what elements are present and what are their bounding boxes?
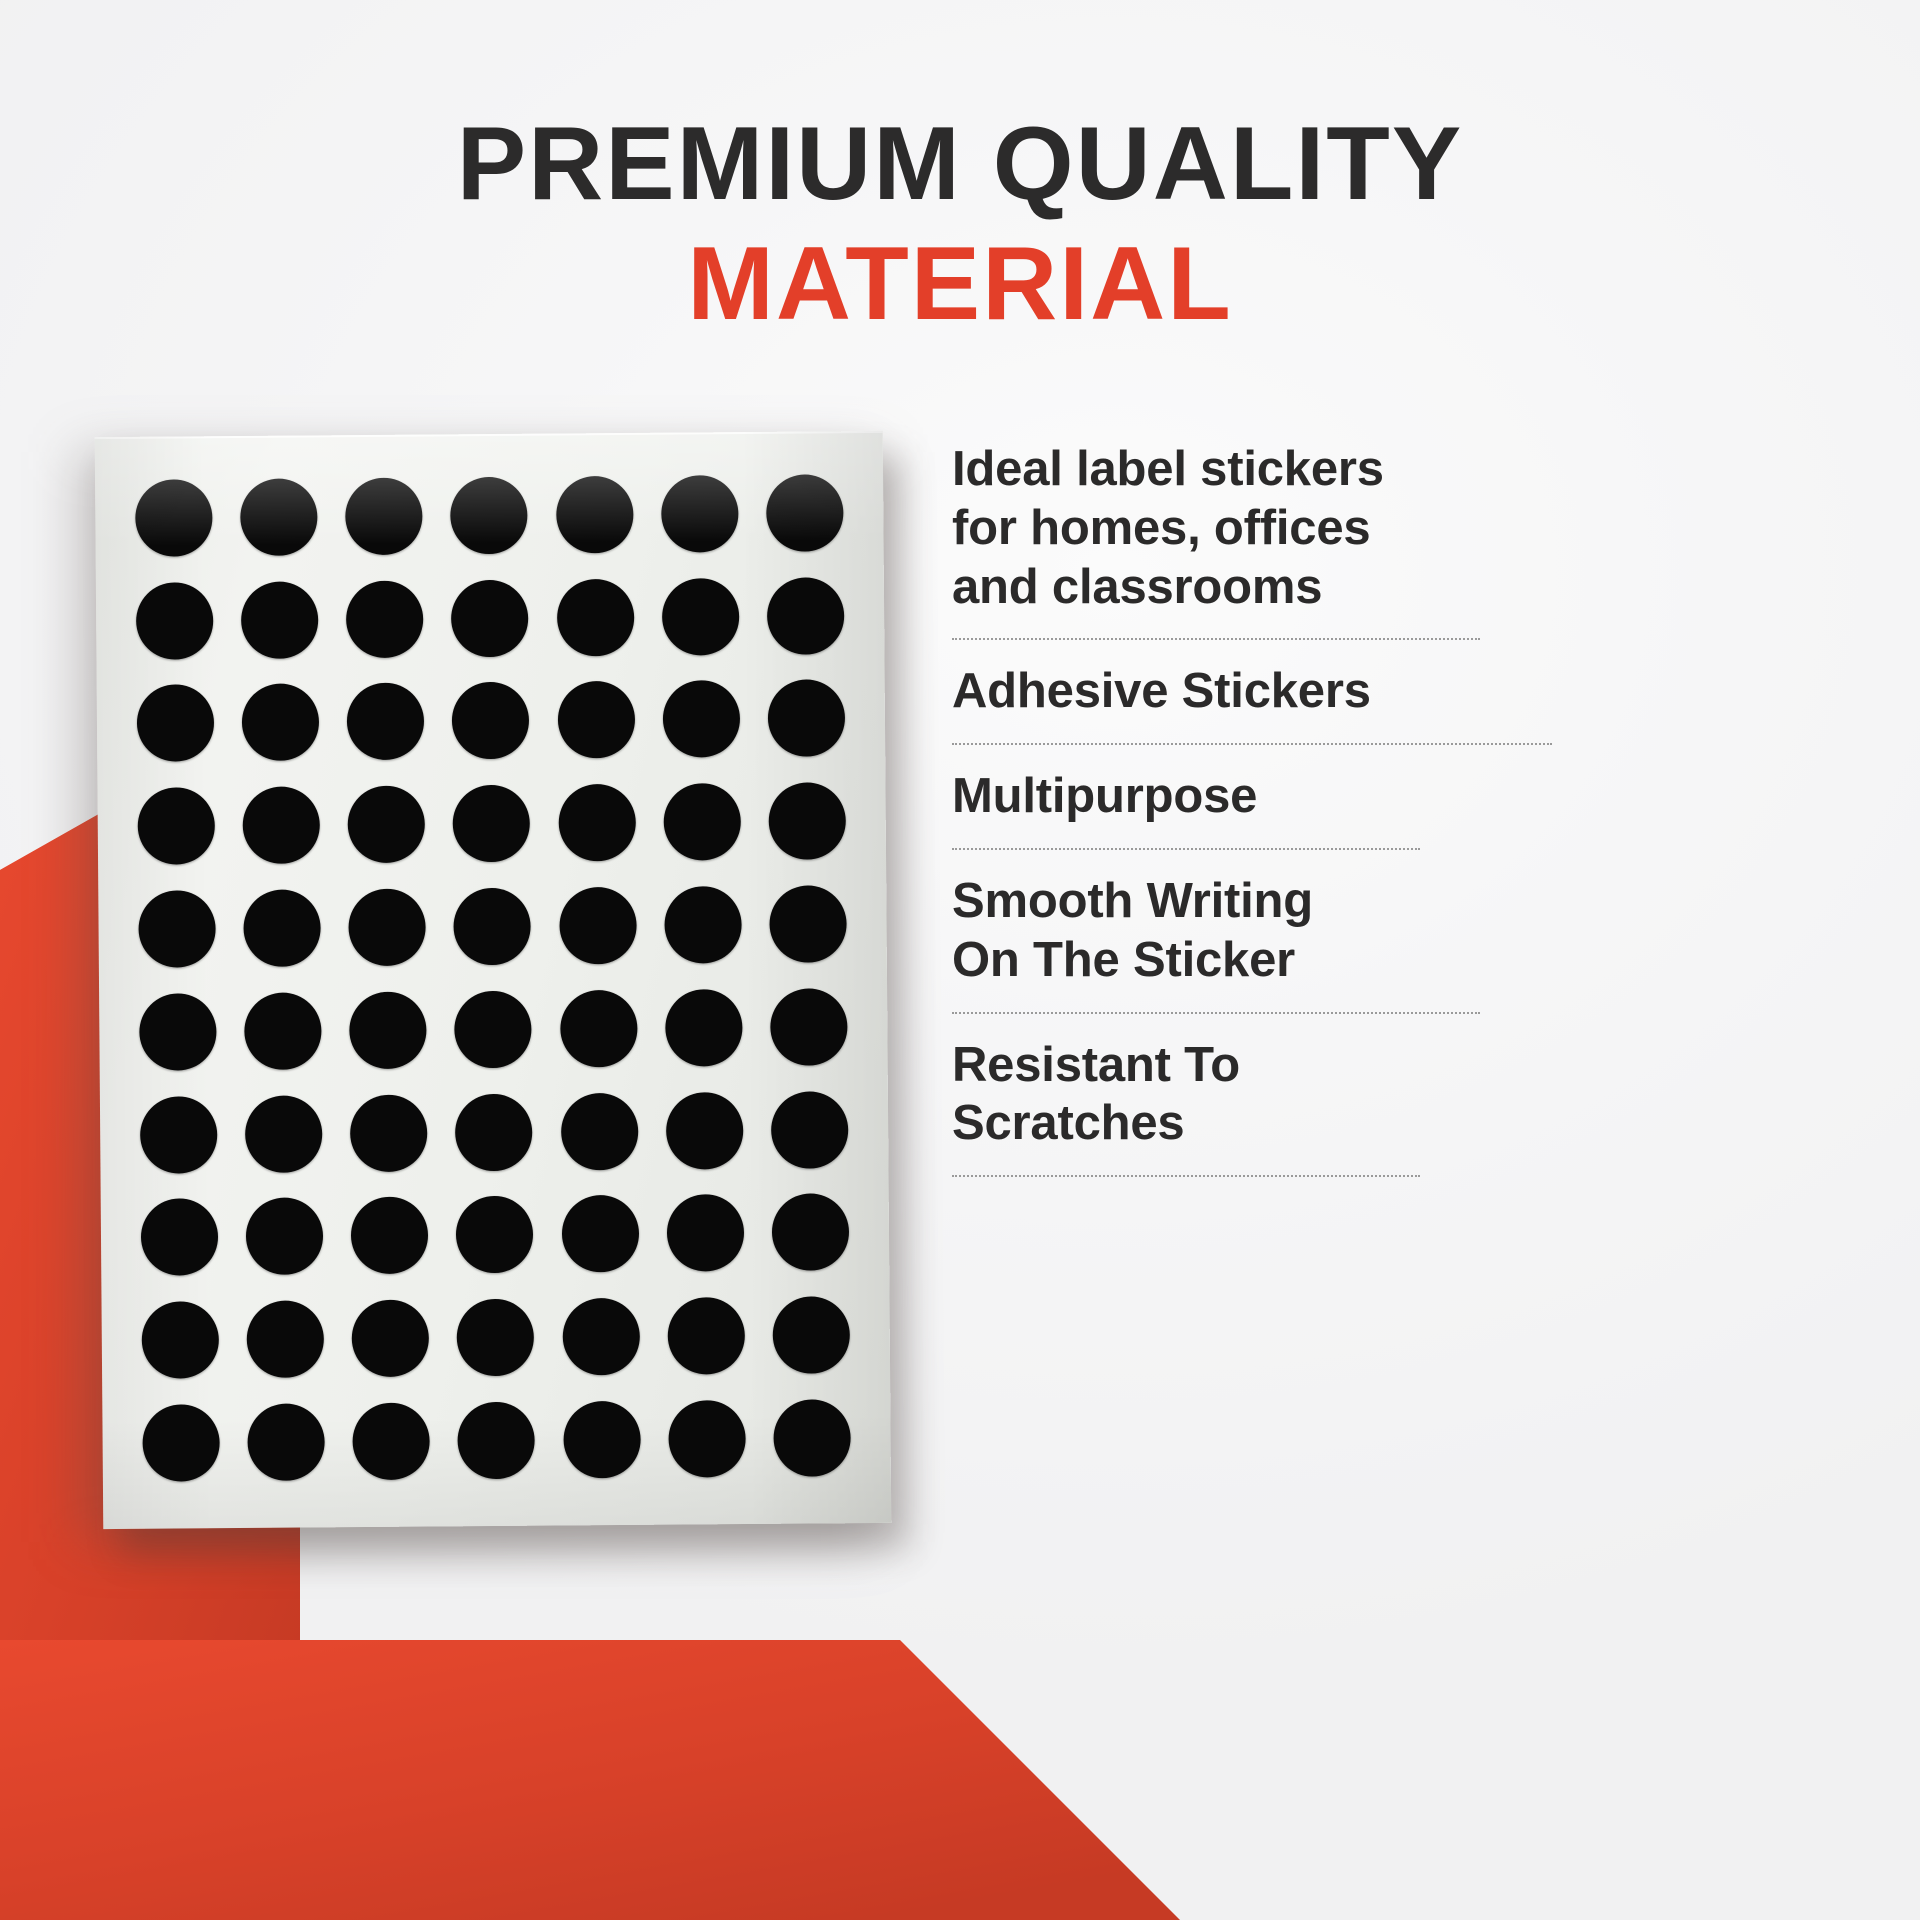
sticker-dot (666, 1195, 744, 1273)
sticker-dot (451, 477, 529, 555)
sticker-dot (138, 890, 216, 968)
sticker-dot (455, 991, 533, 1069)
sticker-dot (243, 889, 321, 967)
sticker-dot (663, 783, 741, 861)
sticker-dot (240, 478, 318, 556)
sticker-dot (667, 1297, 745, 1375)
feature-item: Resistant To Scratches (952, 1036, 1552, 1154)
sticker-dot (664, 886, 742, 964)
page-title: PREMIUM QUALITY MATERIAL (0, 112, 1920, 336)
sticker-dot (771, 1091, 849, 1169)
sticker-dot (457, 1299, 535, 1377)
feature-item: Smooth Writing On The Sticker (952, 872, 1552, 990)
sticker-sheet-photo (95, 431, 892, 1529)
sticker-dot (769, 885, 847, 963)
sticker-dot (454, 888, 532, 966)
sticker-dot (556, 476, 634, 554)
sticker-dot (350, 1094, 428, 1172)
sticker-dot (456, 1196, 534, 1274)
sticker-dot (140, 1096, 218, 1174)
sticker-dot (556, 579, 634, 657)
sticker-dot (561, 1093, 639, 1171)
sticker-dot (247, 1301, 325, 1379)
sticker-dot (563, 1401, 641, 1479)
sticker-dot (246, 1198, 324, 1276)
sticker-dot (244, 992, 322, 1070)
feature-divider (952, 1012, 1480, 1014)
sticker-dot (559, 887, 637, 965)
sticker-dot (141, 1199, 219, 1277)
sticker-dot (351, 1197, 429, 1275)
sticker-dot (138, 787, 216, 865)
sticker-dot (455, 1093, 533, 1171)
sticker-dot (136, 582, 214, 660)
sticker-dot (352, 1300, 430, 1378)
sticker-dot (452, 682, 530, 760)
feature-item: Adhesive Stickers (952, 662, 1552, 721)
sticker-dot (772, 1296, 850, 1374)
feature-text: Smooth Writing On The Sticker (952, 872, 1552, 990)
headline-line-1: PREMIUM QUALITY (0, 112, 1920, 216)
sticker-dot (458, 1402, 536, 1480)
feature-divider (952, 1175, 1420, 1177)
sticker-dot (768, 783, 846, 861)
sticker-dot (135, 479, 213, 557)
sticker-dot (662, 578, 740, 656)
sticker-dot (665, 989, 743, 1067)
sticker-dot (451, 579, 529, 657)
feature-text: Multipurpose (952, 767, 1552, 826)
sticker-dot (773, 1399, 851, 1477)
sticker-dot (142, 1404, 220, 1482)
sticker-dot (349, 889, 427, 967)
sticker-dot (560, 990, 638, 1068)
sticker-dot (142, 1301, 220, 1379)
sticker-dot (345, 477, 423, 555)
feature-item: Ideal label stickers for homes, offices … (952, 440, 1552, 616)
feature-list: Ideal label stickers for homes, offices … (952, 440, 1552, 1199)
headline-line-2: MATERIAL (0, 232, 1920, 336)
sticker-dot (558, 784, 636, 862)
sticker-dot (666, 1092, 744, 1170)
sticker-dot (668, 1400, 746, 1478)
sticker-dot (766, 474, 844, 552)
feature-divider (952, 638, 1480, 640)
feature-text: Resistant To Scratches (952, 1036, 1552, 1154)
sticker-dot (767, 577, 845, 655)
infographic-canvas: PREMIUM QUALITY MATERIAL Ideal label sti… (0, 0, 1920, 1920)
sticker-dot-grid (95, 431, 892, 1529)
sticker-dot (772, 1194, 850, 1272)
sticker-dot (557, 681, 635, 759)
sticker-dot (661, 475, 739, 553)
sticker-dot (770, 988, 848, 1066)
sticker-dot (768, 680, 846, 758)
sticker-dot (349, 991, 427, 1069)
feature-text: Ideal label stickers for homes, offices … (952, 440, 1552, 616)
sticker-dot (248, 1403, 326, 1481)
sticker-dot (241, 581, 319, 659)
sticker-dot (562, 1298, 640, 1376)
sticker-dot (242, 684, 320, 762)
sticker-dot (561, 1195, 639, 1273)
sticker-dot (243, 787, 321, 865)
feature-text: Adhesive Stickers (952, 662, 1552, 721)
sticker-dot (353, 1403, 431, 1481)
sticker-dot (348, 786, 426, 864)
sticker-dot (137, 685, 215, 763)
feature-item: Multipurpose (952, 767, 1552, 826)
feature-divider (952, 848, 1420, 850)
feature-divider (952, 743, 1552, 745)
sticker-dot (139, 993, 217, 1071)
sticker-dot (662, 681, 740, 759)
sticker-dot (346, 580, 424, 658)
sticker-dot (347, 683, 425, 761)
sticker-dot (453, 785, 531, 863)
sticker-dot (245, 1095, 323, 1173)
